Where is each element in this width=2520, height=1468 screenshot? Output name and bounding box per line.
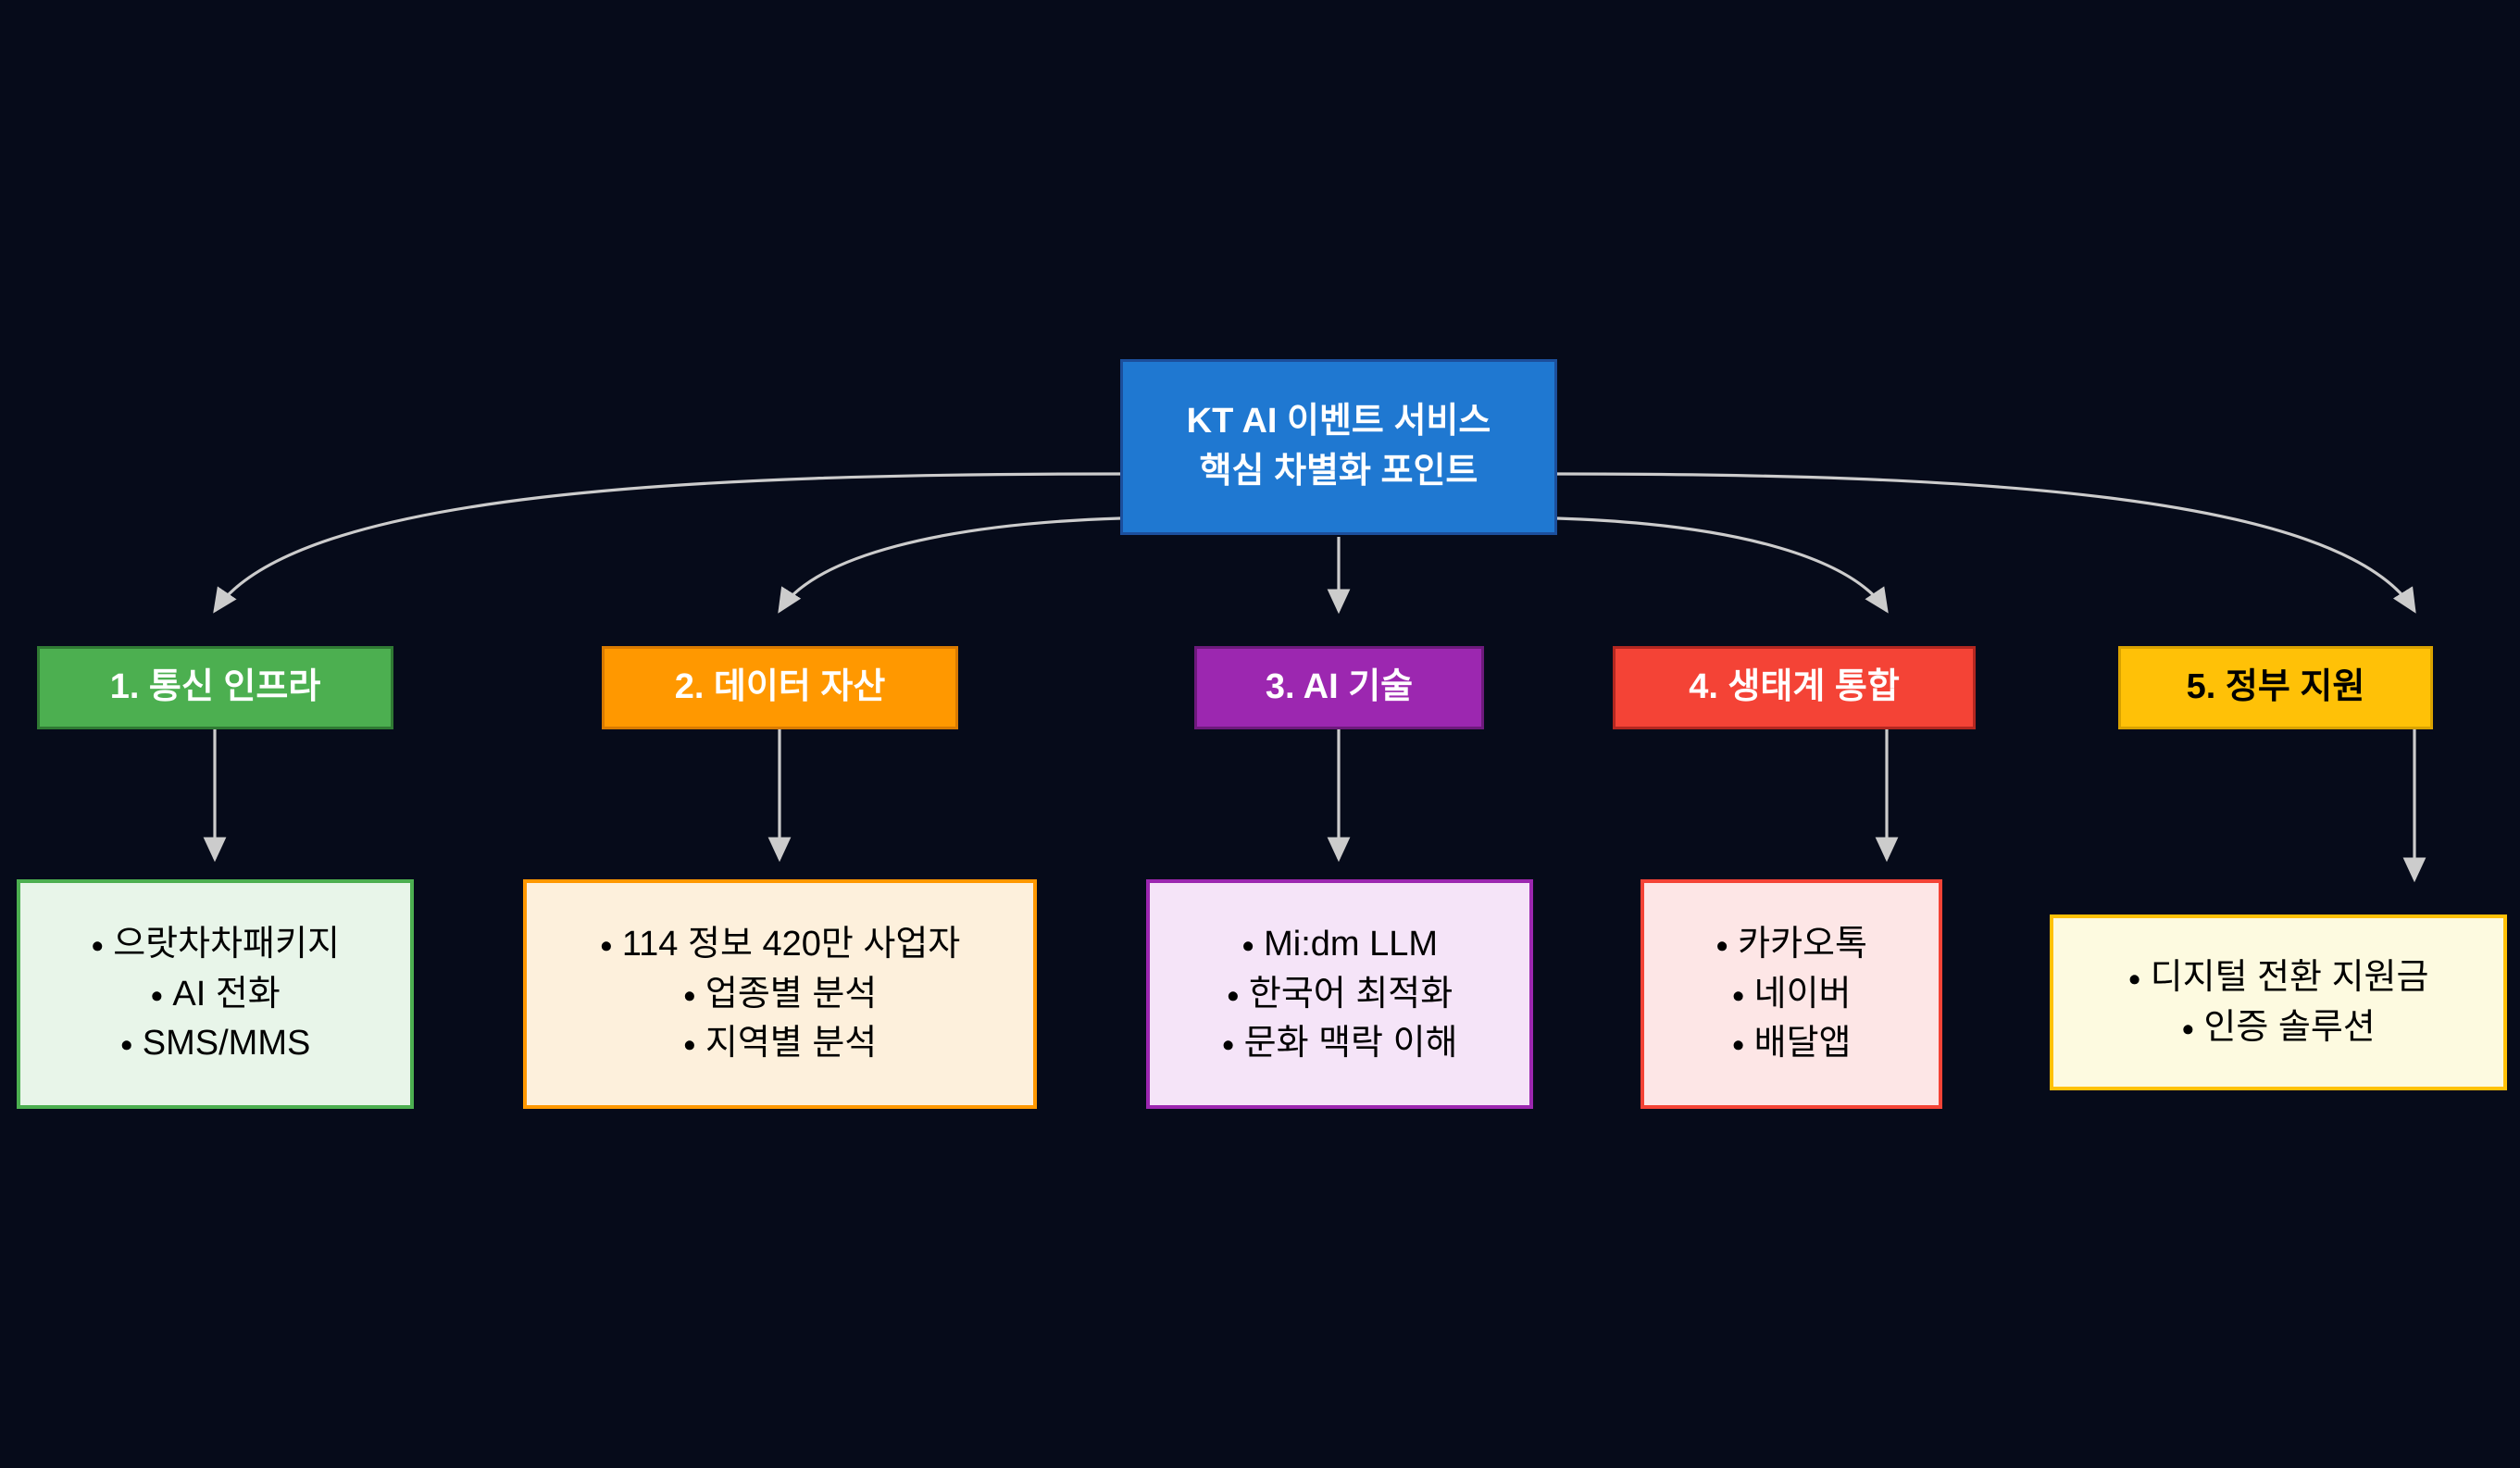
list-item-label: 디지털 전환 지원금	[2151, 958, 2429, 997]
list-item: ●지역별 분석	[540, 1023, 1020, 1064]
list-item: ●업종별 분석	[540, 974, 1020, 1015]
edge-root-to-cat4	[1557, 518, 1887, 611]
node-detail-1[interactable]: ●으랏차차패키지 ●AI 전화 ●SMS/MMS	[17, 879, 414, 1109]
bullet-icon: ●	[683, 1035, 696, 1057]
bullet-icon: ●	[2181, 1018, 2194, 1040]
node-detail-4-list: ●카카오톡 ●네이버 ●배달앱	[1657, 915, 1926, 1073]
edge-root-to-cat5	[1557, 474, 2414, 611]
list-item: ●114 정보 420만 사업자	[540, 924, 1020, 965]
list-item: ●문화 맥락 이해	[1163, 1023, 1516, 1064]
list-item-label: 업종별 분석	[705, 975, 877, 1014]
node-detail-1-list: ●으랏차차패키지 ●AI 전화 ●SMS/MMS	[33, 915, 397, 1073]
bullet-icon: ●	[683, 985, 696, 1007]
node-detail-5[interactable]: ●디지털 전환 지원금 ●인증 솔루션	[2050, 914, 2507, 1090]
list-item-label: 으랏차차패키지	[113, 925, 340, 964]
bullet-icon: ●	[1715, 935, 1728, 957]
edge-root-to-cat1	[215, 474, 1120, 611]
node-category-1-label: 1. 통신 인프라	[110, 665, 321, 710]
list-item: ●SMS/MMS	[33, 1023, 397, 1064]
node-detail-4[interactable]: ●카카오톡 ●네이버 ●배달앱	[1640, 879, 1942, 1109]
list-item: ●배달앱	[1657, 1023, 1926, 1064]
node-root[interactable]: KT AI 이벤트 서비스 핵심 차별화 포인트	[1120, 359, 1557, 535]
bullet-icon: ●	[600, 935, 613, 957]
node-detail-3[interactable]: ●Mi:dm LLM ●한국어 최적화 ●문화 맥락 이해	[1146, 879, 1533, 1109]
node-category-2-label: 2. 데이터 자산	[675, 665, 886, 710]
node-detail-5-list: ●디지털 전환 지원금 ●인증 솔루션	[2066, 949, 2490, 1057]
list-item-label: SMS/MMS	[143, 1024, 311, 1063]
list-item-label: 인증 솔루션	[2203, 1008, 2375, 1047]
list-item-label: AI 전화	[172, 975, 280, 1014]
list-item: ●Mi:dm LLM	[1163, 924, 1516, 965]
node-root-line-2: 핵심 차별화 포인트	[1200, 447, 1478, 497]
node-category-5[interactable]: 5. 정부 지원	[2118, 646, 2433, 729]
list-item: ●AI 전화	[33, 974, 397, 1015]
node-category-4-label: 4. 생태계 통합	[1689, 665, 1900, 710]
node-category-3[interactable]: 3. AI 기술	[1194, 646, 1484, 729]
bullet-icon: ●	[1221, 1035, 1234, 1057]
node-category-3-label: 3. AI 기술	[1266, 665, 1413, 710]
list-item: ●인증 솔루션	[2066, 1007, 2490, 1049]
list-item-label: 네이버	[1754, 975, 1852, 1014]
node-category-4[interactable]: 4. 생태계 통합	[1613, 646, 1976, 729]
list-item-label: 한국어 최적화	[1249, 975, 1453, 1014]
list-item-label: 문화 맥락 이해	[1244, 1024, 1458, 1063]
diagram-canvas: KT AI 이벤트 서비스 핵심 차별화 포인트 1. 통신 인프라 2. 데이…	[0, 0, 2520, 1468]
list-item: ●한국어 최적화	[1163, 974, 1516, 1015]
bullet-icon: ●	[2128, 968, 2141, 990]
list-item-label: 카카오톡	[1738, 925, 1867, 964]
bullet-icon: ●	[1731, 1035, 1744, 1057]
list-item: ●카카오톡	[1657, 924, 1926, 965]
bullet-icon: ●	[1227, 985, 1240, 1007]
list-item-label: 지역별 분석	[705, 1024, 877, 1063]
list-item: ●디지털 전환 지원금	[2066, 957, 2490, 999]
list-item: ●으랏차차패키지	[33, 924, 397, 965]
bullet-icon: ●	[120, 1035, 133, 1057]
node-category-1[interactable]: 1. 통신 인프라	[37, 646, 393, 729]
bullet-icon: ●	[1241, 935, 1254, 957]
node-detail-3-list: ●Mi:dm LLM ●한국어 최적화 ●문화 맥락 이해	[1163, 915, 1516, 1073]
bullet-icon: ●	[150, 985, 163, 1007]
bullet-icon: ●	[1731, 985, 1744, 1007]
node-root-line-1: KT AI 이벤트 서비스	[1187, 397, 1491, 447]
bullet-icon: ●	[91, 935, 104, 957]
list-item-label: 114 정보 420만 사업자	[622, 925, 960, 964]
node-category-5-label: 5. 정부 지원	[2187, 665, 2365, 710]
node-category-2[interactable]: 2. 데이터 자산	[602, 646, 958, 729]
edge-root-to-cat2	[780, 518, 1120, 611]
edge-layer	[0, 0, 2520, 1468]
list-item: ●네이버	[1657, 974, 1926, 1015]
list-item-label: Mi:dm LLM	[1264, 925, 1438, 964]
list-item-label: 배달앱	[1754, 1024, 1852, 1063]
node-detail-2[interactable]: ●114 정보 420만 사업자 ●업종별 분석 ●지역별 분석	[523, 879, 1037, 1109]
node-detail-2-list: ●114 정보 420만 사업자 ●업종별 분석 ●지역별 분석	[540, 915, 1020, 1073]
